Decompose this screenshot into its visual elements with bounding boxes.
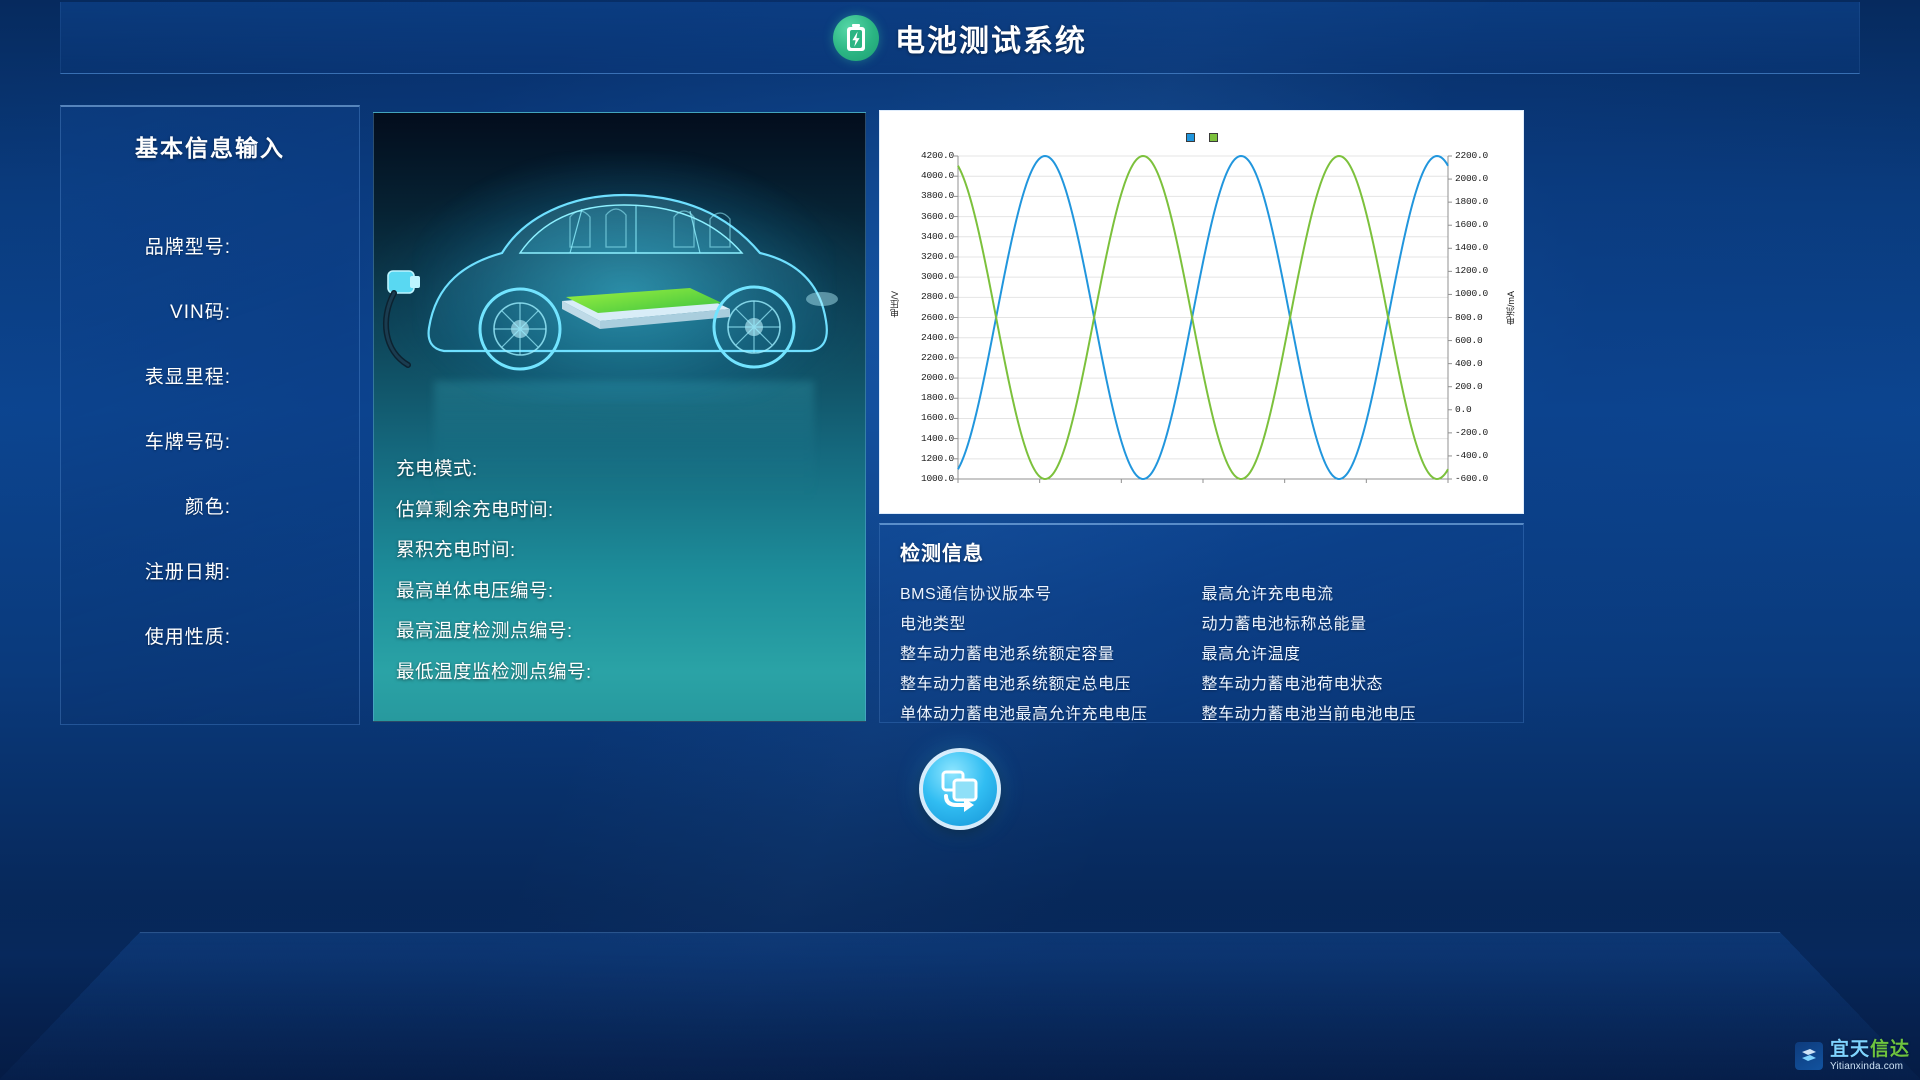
basic-info-panel: 基本信息输入 品牌型号: VIN码: 表显里程: 车牌号码: 颜色: 注册日期:…	[60, 105, 360, 725]
battery-bolt-icon	[833, 15, 879, 61]
detection-info-panel: 检测信息 BMS通信协议版本号 电池类型 整车动力蓄电池系统额定容量 整车动力蓄…	[879, 523, 1524, 723]
field-row-vin[interactable]: VIN码:	[61, 278, 359, 343]
field-row-usage-type[interactable]: 使用性质:	[61, 603, 359, 668]
y2-tick-label: 1200.0	[1455, 265, 1488, 276]
switch-windows-button[interactable]	[919, 748, 1001, 830]
y2-tick-label: 1600.0	[1455, 219, 1488, 230]
field-label-max-cell-voltage-id: 最高单体电压编号:	[396, 577, 554, 603]
y-tick-label: 3200.0	[908, 251, 954, 262]
detection-info-right-column: 最高允许充电电流 动力蓄电池标称总能量 最高允许温度 整车动力蓄电池荷电状态 整…	[1202, 580, 1504, 730]
y-tick-label: 2400.0	[908, 332, 954, 343]
field-label-brand-model: 品牌型号:	[145, 232, 231, 259]
voltage-current-chart: 电压/V 电流/mA 1000.01200.01400.01600.01800.…	[879, 110, 1524, 514]
field-label-plate-number: 车牌号码:	[145, 427, 231, 454]
y2-tick-label: 0.0	[1455, 404, 1472, 415]
charging-connector-icon	[386, 271, 420, 365]
list-item[interactable]: 动力蓄电池标称总能量	[1202, 610, 1504, 640]
watermark: 宜天信达 Yitianxinda.com	[1795, 1040, 1910, 1072]
ev-car-illustration	[374, 113, 866, 443]
y-tick-label: 3800.0	[908, 190, 954, 201]
y2-tick-label: 400.0	[1455, 358, 1483, 369]
chart-svg	[880, 111, 1525, 515]
y2-tick-label: 2000.0	[1455, 173, 1488, 184]
y2-tick-label: 800.0	[1455, 312, 1483, 323]
y-tick-label: 2800.0	[908, 291, 954, 302]
y-tick-label: 1600.0	[908, 412, 954, 423]
list-item[interactable]: 最高允许温度	[1202, 640, 1504, 670]
list-item[interactable]: 单体动力蓄电池最高允许充电电压	[900, 700, 1202, 730]
y-tick-label: 1800.0	[908, 392, 954, 403]
watermark-logo-icon	[1795, 1042, 1823, 1070]
y-tick-label: 1000.0	[908, 473, 954, 484]
field-row-charge-mode[interactable]: 充电模式:	[396, 448, 856, 489]
list-item[interactable]: 整车动力蓄电池系统额定总电压	[900, 670, 1202, 700]
basic-info-field-list: 品牌型号: VIN码: 表显里程: 车牌号码: 颜色: 注册日期: 使用性质:	[61, 213, 359, 668]
list-item[interactable]: 整车动力蓄电池荷电状态	[1202, 670, 1504, 700]
app-title: 电池测试系统	[895, 16, 1087, 60]
basic-info-title: 基本信息输入	[61, 129, 359, 163]
field-label-register-date: 注册日期:	[145, 557, 231, 584]
list-item[interactable]: BMS通信协议版本号	[900, 580, 1202, 610]
y2-tick-label: 1400.0	[1455, 242, 1488, 253]
field-row-max-cell-voltage-id[interactable]: 最高单体电压编号:	[396, 570, 856, 611]
watermark-en: Yitianxinda.com	[1830, 1062, 1910, 1072]
field-label-charge-mode: 充电模式:	[396, 455, 478, 481]
switch-windows-icon	[937, 766, 983, 812]
field-row-remaining-charge-time[interactable]: 估算剩余充电时间:	[396, 489, 856, 530]
field-label-usage-type: 使用性质:	[145, 622, 231, 649]
y2-tick-label: -600.0	[1455, 473, 1488, 484]
field-row-max-temp-probe-id[interactable]: 最高温度检测点编号:	[396, 610, 856, 651]
y-tick-label: 1400.0	[908, 433, 954, 444]
field-label-remaining-charge-time: 估算剩余充电时间:	[396, 496, 554, 522]
y2-tick-label: -200.0	[1455, 427, 1488, 438]
detection-info-left-column: BMS通信协议版本号 电池类型 整车动力蓄电池系统额定容量 整车动力蓄电池系统额…	[900, 580, 1202, 730]
app-header-inner: 电池测试系统	[833, 15, 1087, 61]
y2-tick-label: 200.0	[1455, 381, 1483, 392]
field-label-max-temp-probe-id: 最高温度检测点编号:	[396, 617, 573, 643]
field-row-color[interactable]: 颜色:	[61, 473, 359, 538]
field-label-mileage: 表显里程:	[145, 362, 231, 389]
list-item[interactable]: 整车动力蓄电池当前电池电压	[1202, 700, 1504, 730]
watermark-cn-part1: 宜天	[1830, 1039, 1870, 1060]
y-tick-label: 2200.0	[908, 352, 954, 363]
field-label-min-temp-probe-id: 最低温度监检测点编号:	[396, 658, 592, 684]
watermark-cn: 宜天信达	[1830, 1040, 1910, 1059]
detection-info-title: 检测信息	[900, 537, 1503, 566]
y-tick-label: 4200.0	[908, 150, 954, 161]
charging-status-panel: 充电模式: 估算剩余充电时间: 累积充电时间: 最高单体电压编号: 最高温度检测…	[373, 112, 866, 722]
field-row-register-date[interactable]: 注册日期:	[61, 538, 359, 603]
watermark-text: 宜天信达 Yitianxinda.com	[1830, 1040, 1910, 1072]
y2-tick-label: -400.0	[1455, 450, 1488, 461]
y-tick-label: 4000.0	[908, 170, 954, 181]
list-item[interactable]: 整车动力蓄电池系统额定容量	[900, 640, 1202, 670]
y-tick-label: 3600.0	[908, 211, 954, 222]
field-label-vin: VIN码:	[170, 297, 231, 324]
field-row-accumulated-charge-time[interactable]: 累积充电时间:	[396, 529, 856, 570]
y-tick-label: 1200.0	[908, 453, 954, 464]
charging-field-list: 充电模式: 估算剩余充电时间: 累积充电时间: 最高单体电压编号: 最高温度检测…	[396, 448, 856, 691]
field-label-accumulated-charge-time: 累积充电时间:	[396, 536, 516, 562]
y2-tick-label: 1000.0	[1455, 288, 1488, 299]
watermark-cn-part2: 信达	[1870, 1039, 1910, 1060]
y-tick-label: 2000.0	[908, 372, 954, 383]
field-row-min-temp-probe-id[interactable]: 最低温度监检测点编号:	[396, 651, 856, 692]
y2-tick-label: 600.0	[1455, 335, 1483, 346]
y-tick-label: 3000.0	[908, 271, 954, 282]
y-tick-label: 3400.0	[908, 231, 954, 242]
list-item[interactable]: 最高允许充电电流	[1202, 580, 1504, 610]
field-row-mileage[interactable]: 表显里程:	[61, 343, 359, 408]
bottom-stage	[0, 900, 1920, 1080]
field-row-brand-model[interactable]: 品牌型号:	[61, 213, 359, 278]
list-item[interactable]: 电池类型	[900, 610, 1202, 640]
y2-tick-label: 2200.0	[1455, 150, 1488, 161]
field-row-plate-number[interactable]: 车牌号码:	[61, 408, 359, 473]
chart-plot-area: 1000.01200.01400.01600.01800.02000.02200…	[880, 111, 1525, 515]
detection-info-columns: BMS通信协议版本号 电池类型 整车动力蓄电池系统额定容量 整车动力蓄电池系统额…	[900, 580, 1503, 730]
app-header: 电池测试系统	[60, 2, 1860, 74]
field-label-color: 颜色:	[185, 492, 231, 519]
y2-tick-label: 1800.0	[1455, 196, 1488, 207]
y-tick-label: 2600.0	[908, 312, 954, 323]
